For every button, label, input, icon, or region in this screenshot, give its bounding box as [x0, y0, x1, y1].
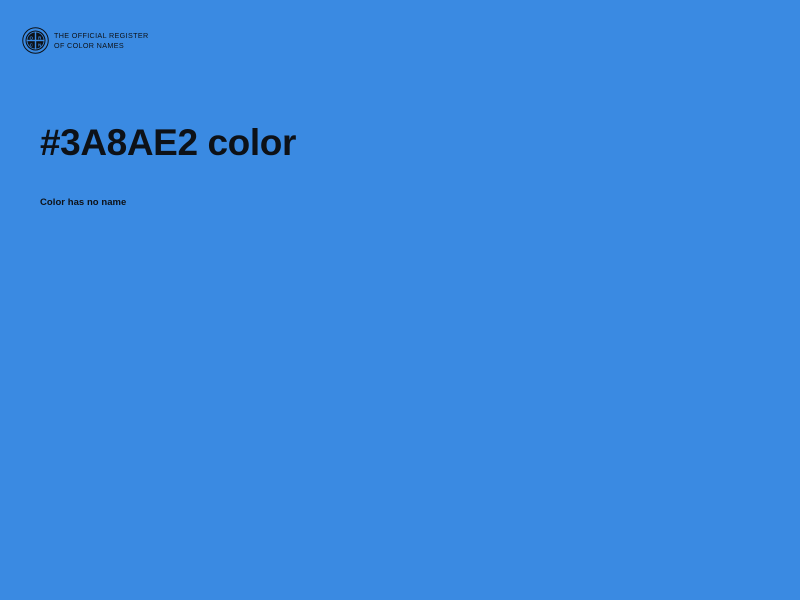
brand-wordmark-line-1: THE OFFICIAL REGISTER	[54, 31, 149, 41]
page-title: #3A8AE2 color	[40, 120, 760, 166]
brand-wordmark: THE OFFICIAL REGISTER OF COLOR NAMES	[54, 31, 149, 50]
color-detail-page: O R C N THE OFFICIAL REGISTER OF COLOR N…	[0, 0, 800, 600]
svg-text:N: N	[38, 43, 41, 48]
color-name-status: Color has no name	[40, 166, 760, 210]
brand-wordmark-line-2: OF COLOR NAMES	[54, 41, 149, 51]
main-content: #3A8AE2 color Color has no name	[40, 120, 760, 210]
brand-logo-link[interactable]: O R C N THE OFFICIAL REGISTER OF COLOR N…	[22, 27, 149, 54]
official-register-seal-icon: O R C N	[22, 27, 49, 54]
svg-text:O: O	[29, 35, 33, 40]
